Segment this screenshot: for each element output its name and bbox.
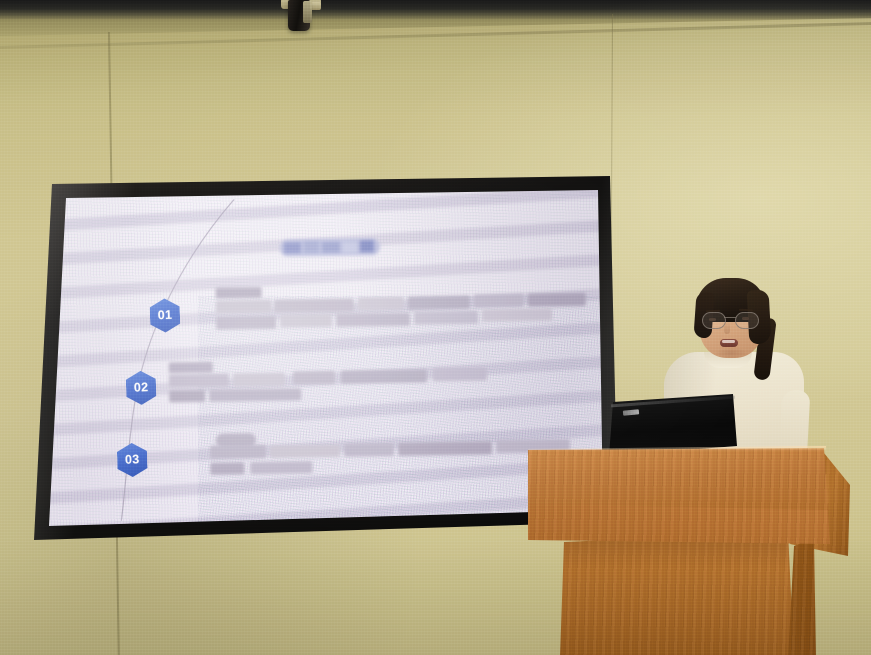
- slide-marker-01: 01: [149, 298, 180, 333]
- lectern-top-edge-highlight: [528, 446, 830, 451]
- presenter-nose: [724, 322, 730, 334]
- slide-body-03-redacted: [210, 428, 571, 480]
- slide-content: 01: [66, 184, 606, 526]
- slide-marker-02-label: 02: [134, 380, 149, 394]
- slide-marker-03: 03: [117, 443, 148, 478]
- lectern-top-grain: [528, 448, 838, 510]
- lectern-top-surface: [528, 448, 838, 510]
- presentation-room-photo: 01: [0, 0, 871, 655]
- lectern-column-shading: [560, 532, 802, 655]
- presenter-chin-shading: [710, 346, 752, 360]
- ceiling-shadow-band: [0, 0, 871, 20]
- ceiling-projector-highlight: [303, 1, 312, 23]
- glasses-lens-right: [735, 312, 759, 329]
- slide-marker-03-label: 03: [125, 452, 140, 466]
- slide-body-01-redacted: [216, 282, 587, 334]
- ceiling-projector-icon: [281, 0, 321, 34]
- glasses-lens-left: [702, 312, 726, 329]
- slide-title-redacted: [280, 238, 380, 257]
- slide-body-02-redacted: [169, 357, 500, 406]
- lectern: [528, 440, 871, 655]
- presenter-teeth: [722, 340, 735, 343]
- slide-marker-01-label: 01: [158, 308, 173, 322]
- slide-marker-02: 02: [126, 370, 157, 405]
- glasses-icon: [702, 312, 762, 328]
